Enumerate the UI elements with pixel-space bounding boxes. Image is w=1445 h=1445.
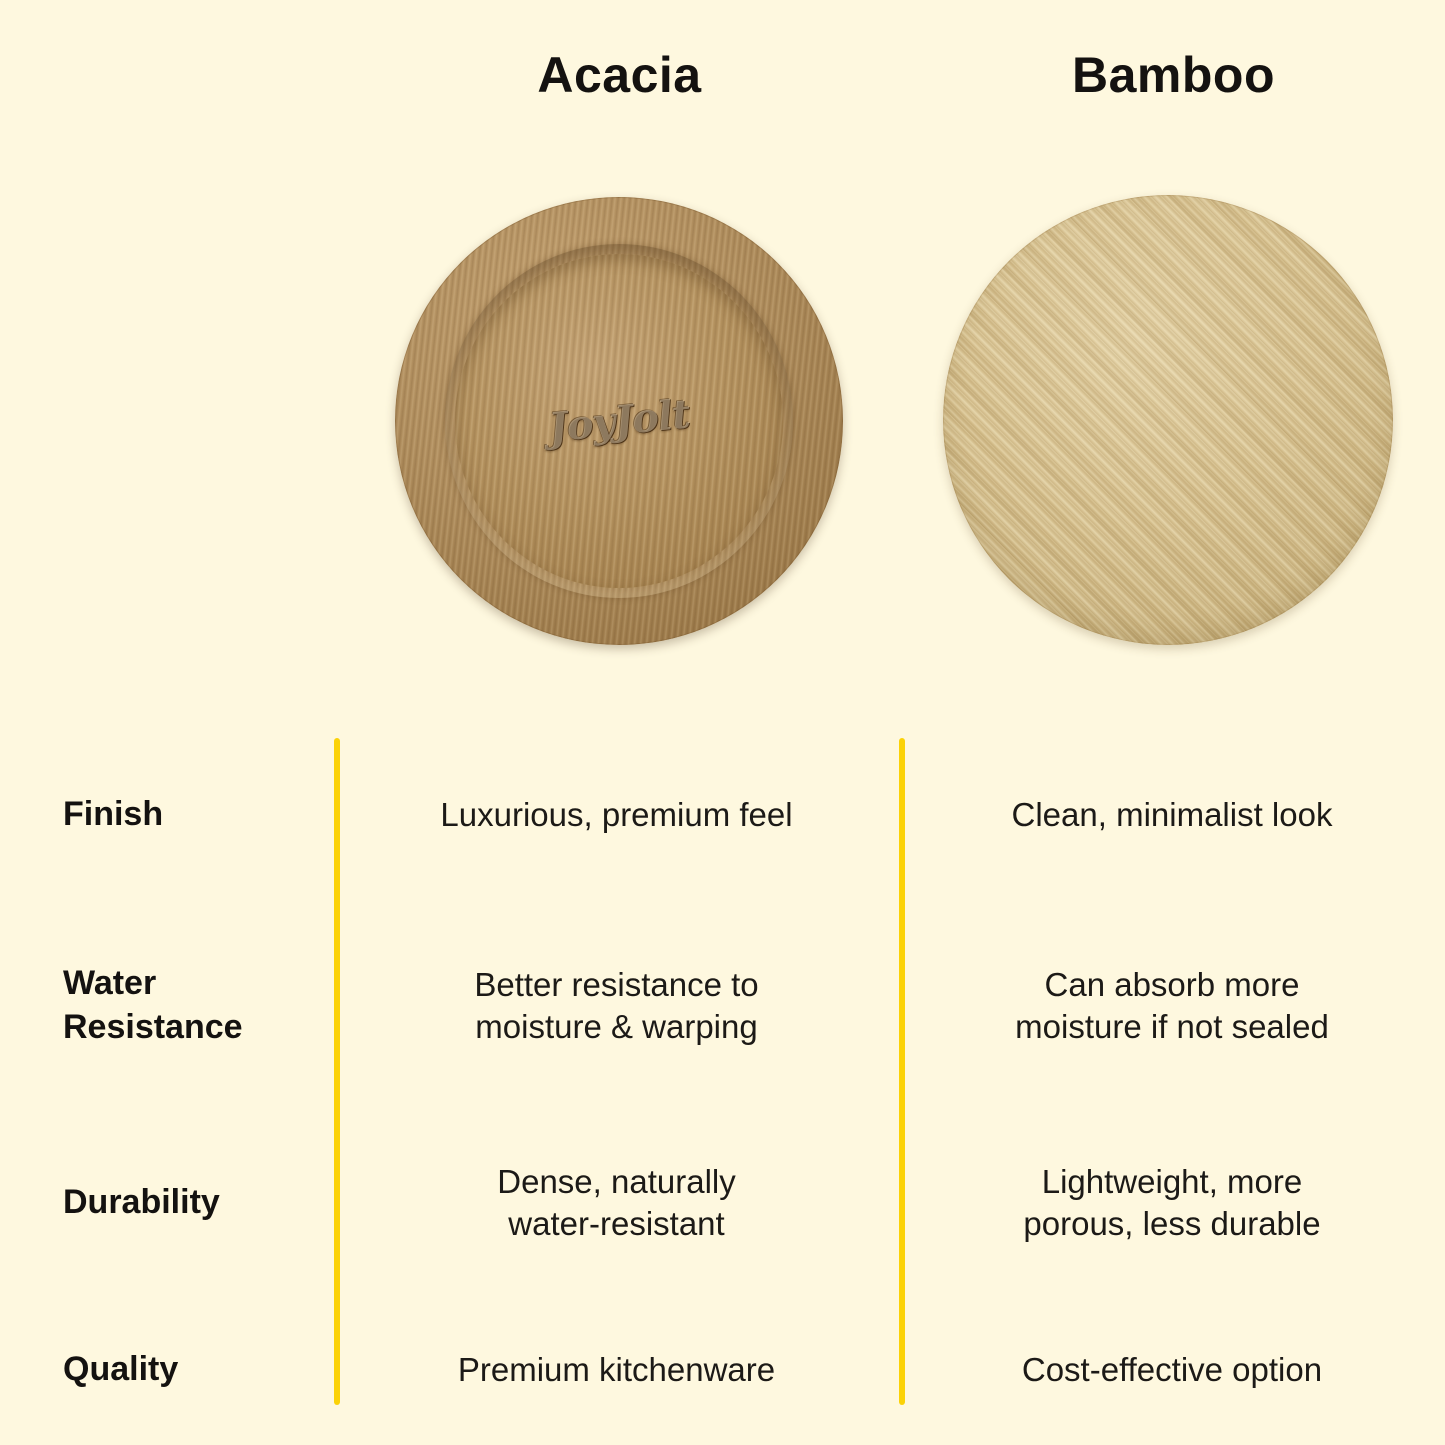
cell-finish-bamboo: Clean, minimalist look (899, 794, 1445, 836)
cell-line1: Can absorb more (925, 964, 1419, 1006)
cell-line2: moisture if not sealed (925, 1006, 1419, 1048)
cell-line1: Dense, naturally (360, 1161, 873, 1203)
column-title-bamboo: Bamboo (902, 50, 1445, 100)
row-label-quality: Quality (0, 1348, 334, 1392)
bamboo-board-body (943, 195, 1393, 645)
bamboo-product-image (935, 185, 1405, 655)
cell-line1: Better resistance to (360, 964, 873, 1006)
comparison-table: Finish Luxurious, premium feel Clean, mi… (0, 720, 1445, 1420)
row-label-line1: Water (63, 962, 320, 1006)
cell-line2: water-resistant (360, 1203, 873, 1245)
cell-water-resistance-acacia: Better resistance to moisture & warping (334, 964, 899, 1048)
cell-line2: moisture & warping (360, 1006, 873, 1048)
cell-water-resistance-bamboo: Can absorb more moisture if not sealed (899, 964, 1445, 1048)
cell-durability-acacia: Dense, naturally water-resistant (334, 1161, 899, 1245)
column-headers: Acacia Bamboo (0, 50, 1445, 140)
cell-quality-acacia: Premium kitchenware (334, 1349, 899, 1391)
table-row: Quality Premium kitchenware Cost-effecti… (0, 1310, 1445, 1430)
acacia-product-image: JoyJolt (385, 185, 855, 655)
row-label-line2: Resistance (63, 1006, 320, 1050)
acacia-plate-body: JoyJolt (395, 197, 843, 645)
cell-line1: Lightweight, more (925, 1161, 1419, 1203)
row-label-durability: Durability (0, 1181, 334, 1225)
cell-line2: porous, less durable (925, 1203, 1419, 1245)
table-row: Finish Luxurious, premium feel Clean, mi… (0, 740, 1445, 890)
product-images: JoyJolt (0, 185, 1445, 665)
cell-durability-bamboo: Lightweight, more porous, less durable (899, 1161, 1445, 1245)
row-label-water-resistance: Water Resistance (0, 962, 334, 1049)
acacia-plate-well: JoyJolt (455, 254, 783, 587)
row-label-finish: Finish (0, 793, 334, 837)
cell-quality-bamboo: Cost-effective option (899, 1349, 1445, 1391)
comparison-infographic: Acacia Bamboo JoyJolt Finish Luxurious, … (0, 0, 1445, 1445)
table-row: Water Resistance Better resistance to mo… (0, 916, 1445, 1096)
column-title-acacia: Acacia (337, 50, 902, 100)
cell-finish-acacia: Luxurious, premium feel (334, 794, 899, 836)
table-row: Durability Dense, naturally water-resist… (0, 1120, 1445, 1285)
joyjolt-brand-logo: JoyJolt (546, 390, 691, 451)
